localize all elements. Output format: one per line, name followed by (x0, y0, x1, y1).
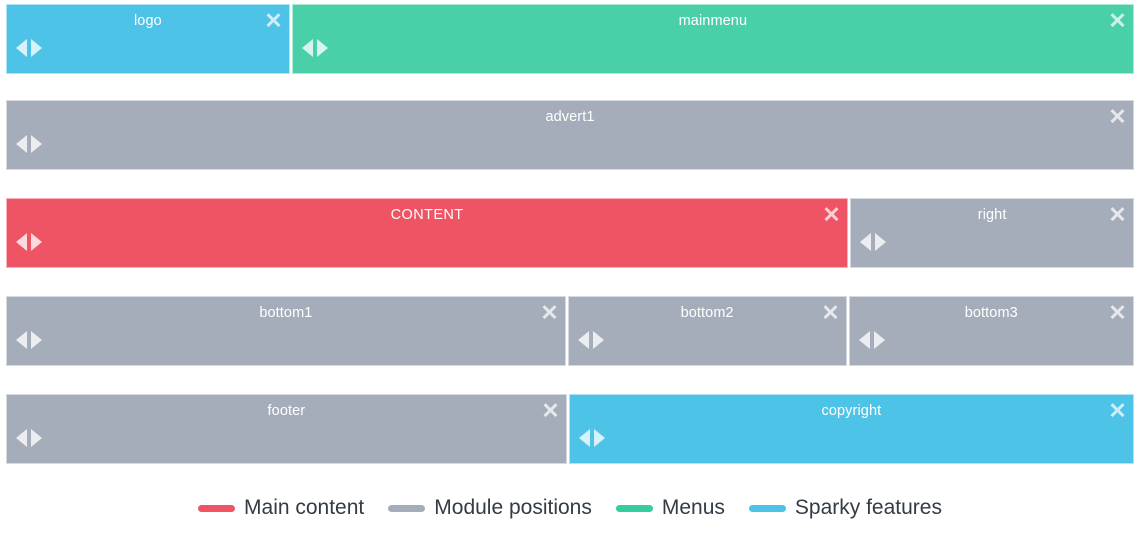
close-icon[interactable] (1109, 401, 1126, 418)
position-label: bottom3 (850, 304, 1134, 322)
row-logo: logomainmenu (6, 4, 1134, 74)
legend-swatch (198, 505, 235, 512)
close-icon[interactable] (541, 303, 558, 320)
position-block-mainmenu[interactable]: mainmenu (292, 4, 1134, 74)
position-label: bottom2 (569, 304, 846, 322)
row-advert: advert1 (6, 100, 1134, 170)
position-label: footer (7, 402, 566, 420)
position-label: mainmenu (293, 12, 1133, 30)
position-label: copyright (570, 402, 1133, 420)
arrow-right-icon[interactable] (593, 331, 604, 349)
legend: Main contentModule positionsMenusSparky … (0, 487, 1140, 529)
position-nav-arrows (16, 39, 42, 57)
legend-label: Menus (662, 496, 725, 520)
arrow-left-icon[interactable] (860, 233, 871, 251)
position-label: bottom1 (7, 304, 565, 322)
row-footer: footercopyright (6, 394, 1134, 464)
arrow-right-icon[interactable] (31, 39, 42, 57)
legend-item: Main content (198, 496, 364, 520)
arrow-left-icon[interactable] (16, 135, 27, 153)
legend-swatch (388, 505, 425, 512)
position-block-right[interactable]: right (850, 198, 1134, 268)
close-icon[interactable] (823, 205, 840, 222)
legend-label: Module positions (434, 496, 592, 520)
position-block-logo[interactable]: logo (6, 4, 290, 74)
arrow-right-icon[interactable] (594, 429, 605, 447)
arrow-left-icon[interactable] (578, 331, 589, 349)
arrow-right-icon[interactable] (31, 233, 42, 251)
arrow-right-icon[interactable] (874, 331, 885, 349)
arrow-left-icon[interactable] (16, 39, 27, 57)
position-block-advert1[interactable]: advert1 (6, 100, 1134, 170)
legend-label: Main content (244, 496, 364, 520)
legend-label: Sparky features (795, 496, 942, 520)
position-block-copyright[interactable]: copyright (569, 394, 1134, 464)
arrow-right-icon[interactable] (31, 429, 42, 447)
arrow-left-icon[interactable] (579, 429, 590, 447)
position-block-bottom1[interactable]: bottom1 (6, 296, 566, 366)
arrow-left-icon[interactable] (302, 39, 313, 57)
position-nav-arrows (302, 39, 328, 57)
arrow-left-icon[interactable] (859, 331, 870, 349)
position-nav-arrows (16, 429, 42, 447)
close-icon[interactable] (1109, 11, 1126, 28)
arrow-right-icon[interactable] (317, 39, 328, 57)
close-icon[interactable] (1109, 205, 1126, 222)
position-nav-arrows (16, 135, 42, 153)
position-nav-arrows (579, 429, 605, 447)
position-nav-arrows (16, 233, 42, 251)
arrow-left-icon[interactable] (16, 429, 27, 447)
close-icon[interactable] (265, 11, 282, 28)
position-nav-arrows (16, 331, 42, 349)
legend-item: Module positions (388, 496, 592, 520)
close-icon[interactable] (1109, 107, 1126, 124)
module-positions-map: logomainmenuadvert1CONTENTrightbottom1bo… (0, 0, 1140, 536)
position-nav-arrows (578, 331, 604, 349)
position-label: right (851, 206, 1133, 224)
position-block-footer[interactable]: footer (6, 394, 567, 464)
close-icon[interactable] (542, 401, 559, 418)
row-content: CONTENTright (6, 198, 1134, 268)
legend-item: Menus (616, 496, 725, 520)
arrow-left-icon[interactable] (16, 331, 27, 349)
arrow-right-icon[interactable] (31, 331, 42, 349)
legend-swatch (616, 505, 653, 512)
position-label: advert1 (7, 108, 1133, 126)
arrow-right-icon[interactable] (875, 233, 886, 251)
legend-item: Sparky features (749, 496, 942, 520)
position-nav-arrows (860, 233, 886, 251)
position-nav-arrows (859, 331, 885, 349)
close-icon[interactable] (822, 303, 839, 320)
row-bottom: bottom1bottom2bottom3 (6, 296, 1134, 366)
position-block-bottom2[interactable]: bottom2 (568, 296, 847, 366)
arrow-right-icon[interactable] (31, 135, 42, 153)
position-label: CONTENT (7, 206, 847, 224)
position-block-bottom3[interactable]: bottom3 (849, 296, 1135, 366)
arrow-left-icon[interactable] (16, 233, 27, 251)
close-icon[interactable] (1109, 303, 1126, 320)
position-label: logo (7, 12, 289, 30)
legend-swatch (749, 505, 786, 512)
position-block-content[interactable]: CONTENT (6, 198, 848, 268)
